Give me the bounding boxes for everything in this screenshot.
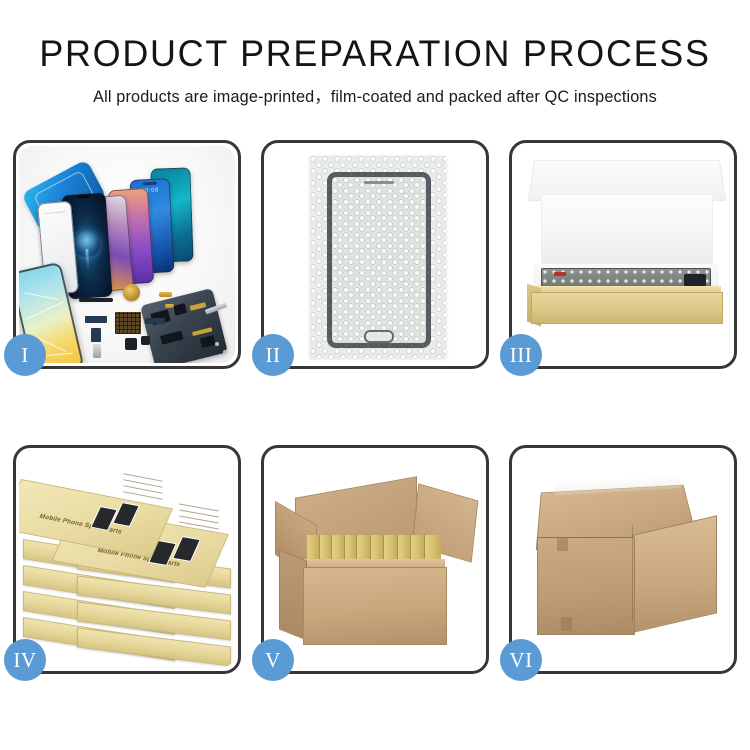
process-step-panel-6: VI [509, 445, 737, 674]
carton-front-panel [537, 537, 635, 635]
home-button [364, 330, 394, 343]
carton-front-panel [303, 567, 447, 645]
spare-part-strip [79, 298, 113, 302]
header: PRODUCT PREPARATION PROCESS All products… [0, 0, 750, 107]
crack-line [24, 292, 58, 299]
spare-part-screw [223, 350, 227, 354]
spare-part-module [125, 338, 137, 350]
box-front-panel [531, 292, 723, 324]
glass-seam [44, 211, 66, 214]
process-step-panel-1: 08:08 [13, 140, 241, 369]
step-badge-6: VI [500, 639, 542, 681]
step-badge-5: V [252, 639, 294, 681]
spare-part-bracket [93, 344, 101, 358]
spare-part-screw [215, 342, 219, 346]
spare-part-contact [159, 292, 172, 297]
crack-line [26, 301, 64, 320]
board-chip [200, 335, 216, 348]
step-6-image [515, 451, 731, 668]
spare-part-contact [165, 304, 174, 308]
process-step-panel-5: V [261, 445, 489, 674]
carton-notch [557, 537, 568, 551]
phone-notch [143, 182, 157, 186]
step-badge-2: II [252, 334, 294, 376]
step-4-image: Mobile Phone Spare Parts Mobile Phone Sp… [19, 451, 235, 668]
step-5-image [267, 451, 483, 668]
carton-seam [537, 537, 633, 538]
step-badge-4: IV [4, 639, 46, 681]
kraft-box-stack: Mobile Phone Spare Parts Mobile Phone Sp… [19, 451, 235, 668]
process-step-panel-3: III [509, 140, 737, 369]
spare-part-mesh [115, 312, 141, 334]
carton-right-panel [633, 515, 717, 632]
earpiece-speaker [364, 181, 394, 184]
carton-notch [561, 617, 572, 631]
step-badge-1: I [4, 334, 46, 376]
step-1-image: 08:08 [19, 146, 235, 363]
page-subtitle: All products are image-printed，film-coat… [6, 83, 745, 107]
step-badge-3: III [500, 334, 542, 376]
spare-part-module [141, 336, 150, 345]
board-chip [173, 303, 187, 316]
process-step-panel-2: II [261, 140, 489, 369]
process-step-panel-4: Mobile Phone Spare Parts Mobile Phone Sp… [13, 445, 241, 674]
spare-part-flex-cable [145, 318, 165, 324]
red-label [554, 272, 566, 276]
board-chip [160, 331, 184, 345]
phone-notch [76, 194, 91, 199]
wrapped-phone-screen [327, 172, 431, 348]
step-3-image [515, 146, 731, 363]
spare-part-coil [123, 284, 140, 301]
process-step-grid: 08:08 [13, 140, 737, 674]
spare-part-flex-cable [91, 328, 101, 342]
step-2-image [267, 146, 483, 363]
board-connector [192, 327, 212, 336]
page-title: PRODUCT PREPARATION PROCESS [11, 34, 739, 74]
carton-seam [632, 525, 633, 621]
spare-part-flex-cable [85, 316, 107, 323]
jellyfish-wallpaper [73, 230, 101, 258]
